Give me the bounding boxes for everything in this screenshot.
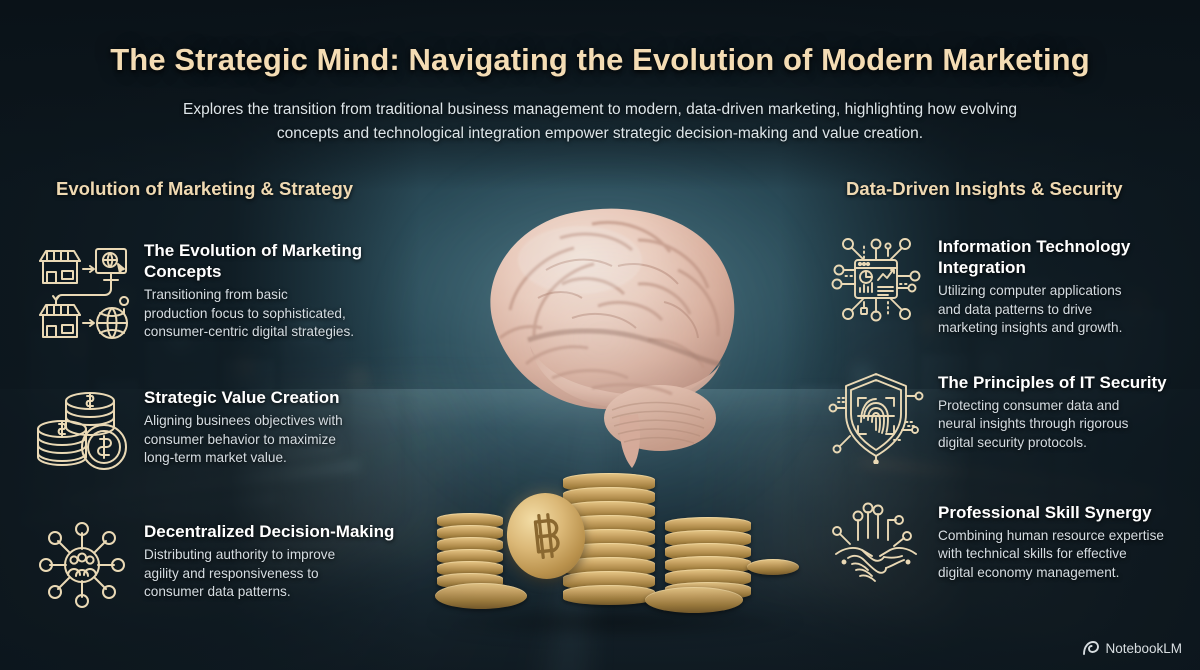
list-item: The Principles of IT Security Protecting… [828, 368, 1200, 464]
list-item: Professional Skill Synergy Combining hum… [828, 498, 1200, 594]
column-right: Data-Driven Insights & Security [828, 178, 1200, 594]
list-item-title: Information Technology Integration [938, 236, 1200, 278]
list-item: Information Technology Integration Utili… [828, 232, 1200, 338]
dashboard-chip-network-icon [828, 232, 924, 328]
list-item-body: Strategic Value Creation Aligning busine… [144, 383, 434, 479]
list-item-body: The Evolution of Marketing Concepts Tran… [144, 236, 434, 348]
notebooklm-spiral-icon [1082, 641, 1099, 656]
list-item-title: The Principles of IT Security [938, 372, 1200, 393]
list-item-description: Utilizing computer applications and data… [938, 282, 1200, 338]
list-item-title: Strategic Value Creation [144, 387, 434, 408]
column-left-heading: Evolution of Marketing & Strategy [34, 178, 434, 200]
coin-stacks-dollar-icon [34, 383, 130, 479]
list-item-body: Decentralized Decision-Making Distributi… [144, 517, 434, 613]
page-title: The Strategic Mind: Navigating the Evolu… [0, 42, 1200, 78]
list-item-body: Professional Skill Synergy Combining hum… [938, 498, 1200, 594]
list-item-title: Professional Skill Synergy [938, 502, 1200, 523]
list-item-description: Protecting consumer data and neural insi… [938, 397, 1200, 453]
list-item-body: Information Technology Integration Utili… [938, 232, 1200, 338]
list-item: The Evolution of Marketing Concepts Tran… [34, 236, 434, 348]
list-item-title: Decentralized Decision-Making [144, 521, 434, 542]
list-item-description: Combining human resource expertise with … [938, 527, 1200, 583]
shield-fingerprint-icon [828, 368, 924, 464]
list-item-body: The Principles of IT Security Protecting… [938, 368, 1200, 464]
list-item: Strategic Value Creation Aligning busine… [34, 383, 434, 479]
content-layer: The Strategic Mind: Navigating the Evolu… [0, 0, 1200, 670]
list-item-description: Aligning businees objectives with consum… [144, 412, 434, 468]
decentralized-network-people-icon [34, 517, 130, 613]
storefront-to-digital-icon [34, 236, 130, 348]
notebooklm-watermark: NotebookLM [1082, 641, 1182, 656]
column-right-heading: Data-Driven Insights & Security [828, 178, 1200, 200]
list-item-description: Transitioning from basic production focu… [144, 286, 434, 342]
list-item-description: Distributing authority to improve agilit… [144, 546, 434, 602]
notebooklm-label: NotebookLM [1105, 641, 1182, 656]
handshake-circuit-icon [828, 498, 924, 594]
page-subtitle: Explores the transition from traditional… [150, 98, 1050, 146]
list-item-title: The Evolution of Marketing Concepts [144, 240, 434, 282]
list-item: Decentralized Decision-Making Distributi… [34, 517, 434, 613]
column-left: Evolution of Marketing & Strategy [34, 178, 434, 613]
infographic-canvas: The Strategic Mind: Navigating the Evolu… [0, 0, 1200, 670]
